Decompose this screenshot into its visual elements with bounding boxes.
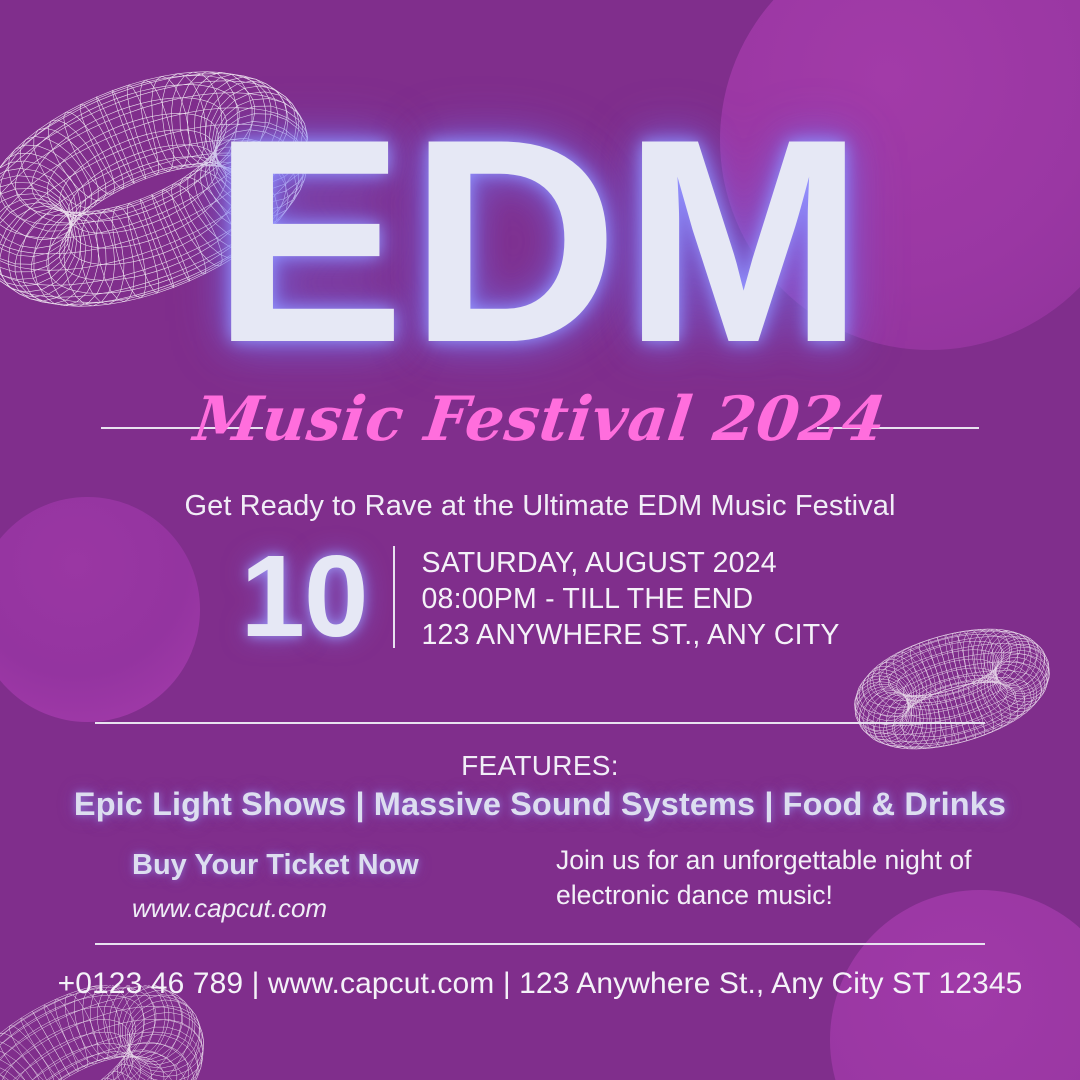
date-line-time: 08:00PM - TILL THE END xyxy=(421,582,839,618)
date-line-day: SATURDAY, AUGUST 2024 xyxy=(421,546,839,582)
page-title: EDM xyxy=(0,96,1080,386)
date-line-address: 123 ANYWHERE ST., ANY CITY xyxy=(421,618,839,654)
buy-ticket-url[interactable]: www.capcut.com xyxy=(132,893,532,924)
buy-ticket-heading: Buy Your Ticket Now xyxy=(132,848,532,883)
features-list: Epic Light Shows | Massive Sound Systems… xyxy=(0,786,1080,823)
features-label: FEATURES: xyxy=(0,750,1080,782)
date-details: SATURDAY, AUGUST 2024 08:00PM - TILL THE… xyxy=(395,540,839,654)
footer-contact: +0123 46 789 | www.capcut.com | 123 Anyw… xyxy=(0,967,1080,1001)
tagline: Get Ready to Rave at the Ultimate EDM Mu… xyxy=(0,490,1080,523)
divider-footer xyxy=(95,943,985,945)
buy-ticket-block[interactable]: Buy Your Ticket Now www.capcut.com xyxy=(132,848,532,924)
join-message: Join us for an unforgettable night of el… xyxy=(556,843,976,913)
date-block: 10 SATURDAY, AUGUST 2024 08:00PM - TILL … xyxy=(0,540,1080,654)
day-number: 10 xyxy=(240,540,393,654)
edm-festival-poster: EDM Music Festival 2024 Get Ready to Rav… xyxy=(0,0,1080,1080)
subtitle-script: Music Festival 2024 xyxy=(0,389,1080,450)
divider-features xyxy=(95,722,985,724)
